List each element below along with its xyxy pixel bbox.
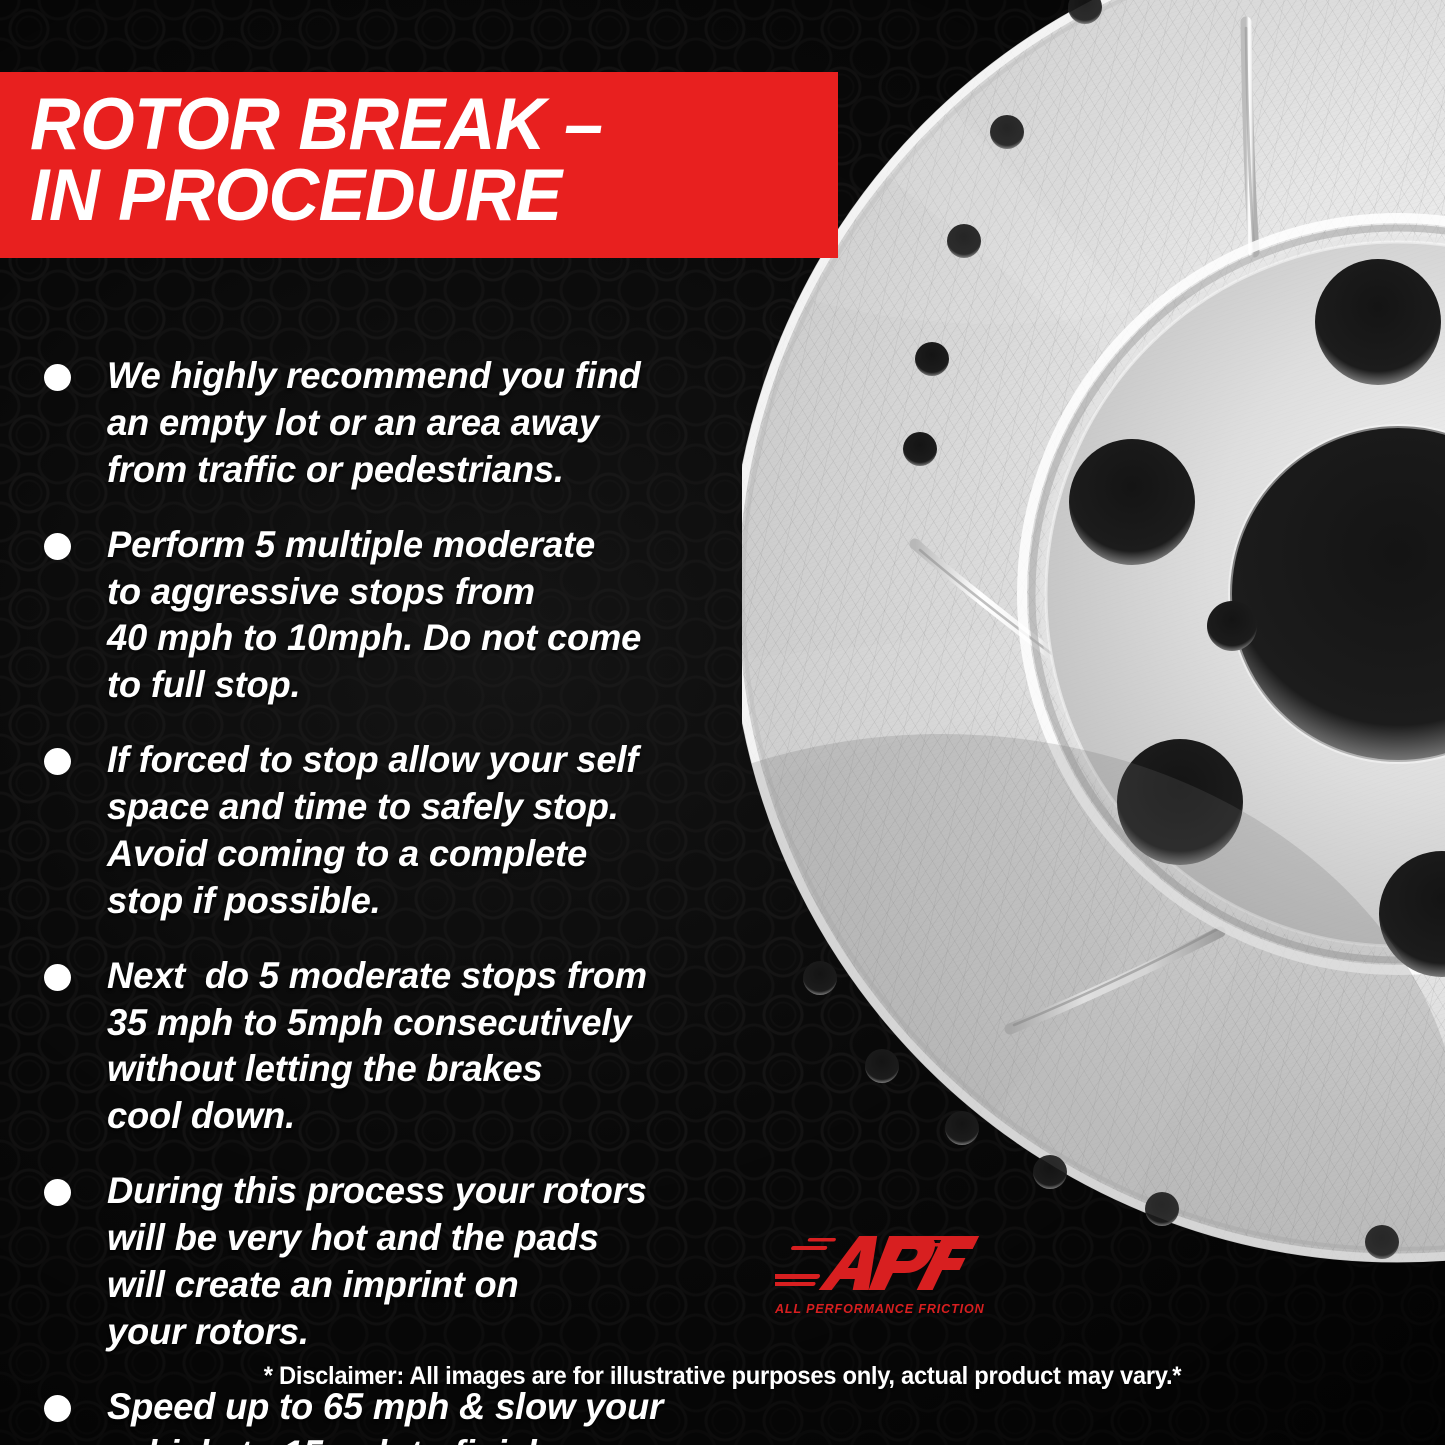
procedure-step-list: We highly recommend you find an empty lo… <box>44 352 764 1445</box>
brake-rotor-illustration <box>742 0 1445 1445</box>
product-photo-brake-rotor <box>742 0 1445 1445</box>
list-item-label: Speed up to 65 mph & slow your vehicle t… <box>107 1383 744 1445</box>
apf-wordmark-icon <box>775 1230 980 1302</box>
list-item-label: Next do 5 moderate stops from 35 mph to … <box>107 952 744 1140</box>
bullet-dot-icon <box>44 964 71 991</box>
list-item-label: Perform 5 multiple moderate to aggressiv… <box>107 521 744 709</box>
list-item-label: During this process your rotors will be … <box>107 1167 744 1355</box>
disclaimer-text: * Disclaimer: All images are for illustr… <box>36 1362 1409 1391</box>
list-item: During this process your rotors will be … <box>44 1167 764 1355</box>
bullet-dot-icon <box>44 748 71 775</box>
list-item: Perform 5 multiple moderate to aggressiv… <box>44 521 764 709</box>
apf-logo: ALL PERFORMANCE FRICTION <box>775 1230 980 1330</box>
bullet-dot-icon <box>44 1395 71 1422</box>
bullet-dot-icon <box>44 533 71 560</box>
page-title-line-1: ROTOR BREAK – <box>30 90 777 161</box>
title-banner: ROTOR BREAK – IN PROCEDURE <box>0 72 838 258</box>
list-item-label: If forced to stop allow your self space … <box>107 736 744 924</box>
list-item: If forced to stop allow your self space … <box>44 736 764 924</box>
list-item: We highly recommend you find an empty lo… <box>44 352 764 493</box>
infographic-canvas: ROTOR BREAK – IN PROCEDURE We highly rec… <box>0 0 1445 1445</box>
locating-pin-hole <box>1207 601 1257 651</box>
bullet-dot-icon <box>44 364 71 391</box>
bullet-dot-icon <box>44 1179 71 1206</box>
apf-tagline: ALL PERFORMANCE FRICTION <box>775 1302 980 1316</box>
list-item: Next do 5 moderate stops from 35 mph to … <box>44 952 764 1140</box>
list-item-label: We highly recommend you find an empty lo… <box>107 352 744 493</box>
list-item: Speed up to 65 mph & slow your vehicle t… <box>44 1383 764 1445</box>
page-title-line-2: IN PROCEDURE <box>30 161 777 232</box>
